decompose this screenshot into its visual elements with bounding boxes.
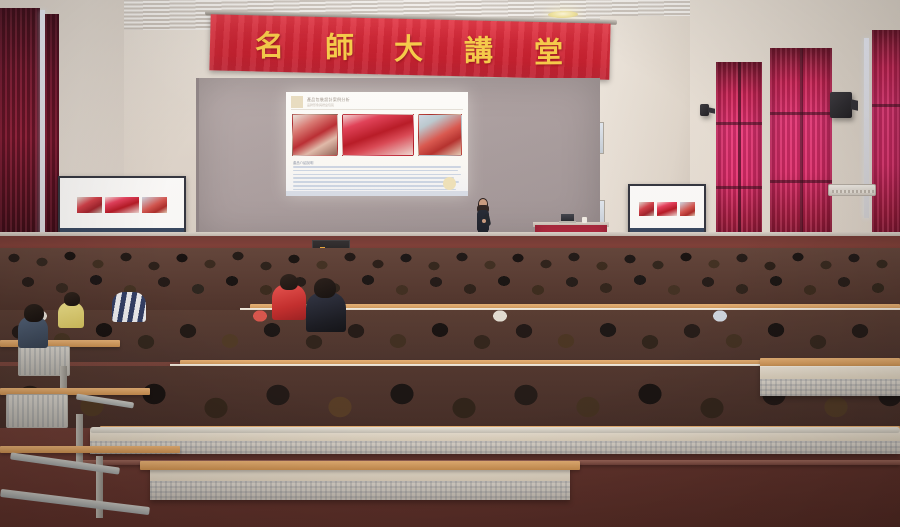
window-curtain-left-2 xyxy=(45,14,59,266)
window-mullion-r2-v xyxy=(800,48,803,262)
banner-char-2: 師 xyxy=(325,24,356,66)
projected-slide: 產品包裝設計案例分析 品牌形象與禮盒包裝 產品介紹說明 xyxy=(286,92,468,196)
left-monitor-screen xyxy=(60,178,184,232)
desk-foreground xyxy=(140,461,580,470)
overhead-red-banner: 名 師 大 講 堂 xyxy=(209,14,610,79)
wall-speaker-right xyxy=(830,92,852,118)
slide-divider xyxy=(291,109,463,110)
slide-accent-dot xyxy=(443,177,456,190)
student-red-hoodie-head xyxy=(280,274,298,290)
seat-leg-left-2 xyxy=(76,414,83,466)
bench-row-2-panel xyxy=(90,441,900,454)
backdrop-edge-left xyxy=(196,78,199,240)
desk-left-side-3 xyxy=(0,446,180,453)
left-monitor-image-1 xyxy=(77,197,102,213)
window-curtain-right-3 xyxy=(872,30,900,262)
bench-row-2 xyxy=(90,430,900,454)
laptop-icon xyxy=(559,214,576,223)
slide-logo-mark xyxy=(291,96,303,108)
right-monitor-image-1 xyxy=(639,202,654,216)
banner-char-5: 堂 xyxy=(533,29,564,71)
wall-speaker-right-2 xyxy=(700,104,709,116)
right-monitor-image-2 xyxy=(657,202,678,216)
slide-image-row xyxy=(292,114,462,156)
left-monitor-image-2 xyxy=(105,197,140,213)
slide-footer-band xyxy=(286,191,468,196)
student-black-top-head xyxy=(314,278,336,298)
left-monitor-image-3 xyxy=(142,197,167,213)
audience-seating-area xyxy=(0,248,900,527)
student-black-top xyxy=(306,292,346,332)
banner-char-1: 名 xyxy=(255,23,286,65)
banner-text: 名 師 大 講 堂 xyxy=(209,14,610,79)
water-cup xyxy=(582,217,587,223)
presenter-hand-microphone xyxy=(482,219,486,223)
slide-image-red-gift-box xyxy=(292,114,338,156)
window-mullion-r3-h1 xyxy=(872,104,900,107)
student-left-front-1-head xyxy=(24,304,44,322)
bench-row-2-rail xyxy=(90,427,900,433)
right-wall-monitor xyxy=(628,184,706,234)
bench-foreground xyxy=(150,466,570,500)
right-monitor-image-3 xyxy=(680,202,695,216)
banner-char-4: 講 xyxy=(464,27,495,69)
lecture-hall-photo: 名 師 大 講 堂 產品包裝設計案例分析 品牌形象與禮盒包裝 產品介紹說明 xyxy=(0,0,900,527)
slide-image-tea-canisters xyxy=(418,114,462,156)
laptop-screen xyxy=(561,214,574,221)
right-monitor-screen xyxy=(630,186,704,232)
student-left-front-2-head xyxy=(64,292,80,306)
air-conditioner-unit xyxy=(828,184,876,196)
left-wall-monitor xyxy=(58,176,186,234)
laptop-keyboard xyxy=(559,221,576,223)
window-curtain-left-dark xyxy=(0,8,40,266)
slide-image-open-box xyxy=(342,114,414,156)
slide-subtitle: 品牌形象與禮盒包裝 xyxy=(307,103,334,107)
bench-foreground-panel xyxy=(150,481,570,500)
banner-char-3: 大 xyxy=(394,26,425,68)
slide-section-heading: 產品介紹說明 xyxy=(293,160,313,165)
seat-back-left-2 xyxy=(6,394,68,428)
bench-foreground-right xyxy=(760,366,900,396)
bench-foreground-right-panel xyxy=(760,379,900,396)
student-left-striped xyxy=(112,292,146,322)
